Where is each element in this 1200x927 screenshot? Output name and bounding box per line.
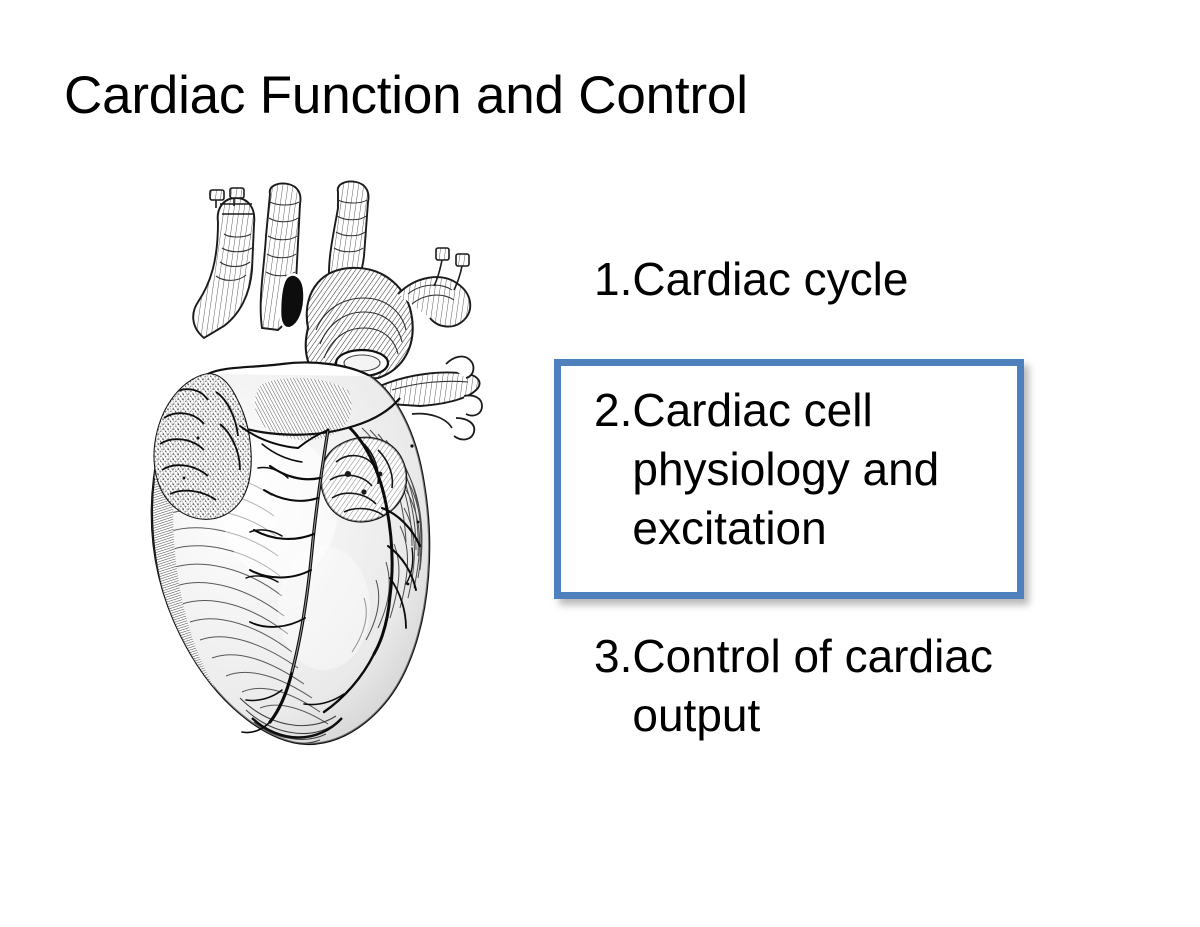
agenda-item-1-number: 1. — [594, 250, 632, 309]
agenda-item-3-number: 3. — [594, 627, 632, 686]
agenda-item-3[interactable]: 3. Control of cardiac output — [594, 627, 994, 745]
agenda-item-1[interactable]: 1. Cardiac cycle — [594, 250, 1024, 309]
anatomical-heart-icon — [112, 178, 484, 753]
agenda-item-2[interactable]: 2. Cardiac cell physiology and excitatio… — [594, 381, 1014, 558]
slide: Cardiac Function and Control — [0, 0, 1200, 927]
agenda-item-3-label: Control of cardiac output — [632, 627, 994, 745]
agenda-item-1-label: Cardiac cycle — [632, 250, 1024, 309]
agenda-item-2-number: 2. — [594, 381, 632, 440]
agenda-item-2-label: Cardiac cell physiology and excitation — [632, 381, 1014, 558]
page-title: Cardiac Function and Control — [64, 68, 748, 124]
heart-illustration — [112, 178, 484, 753]
